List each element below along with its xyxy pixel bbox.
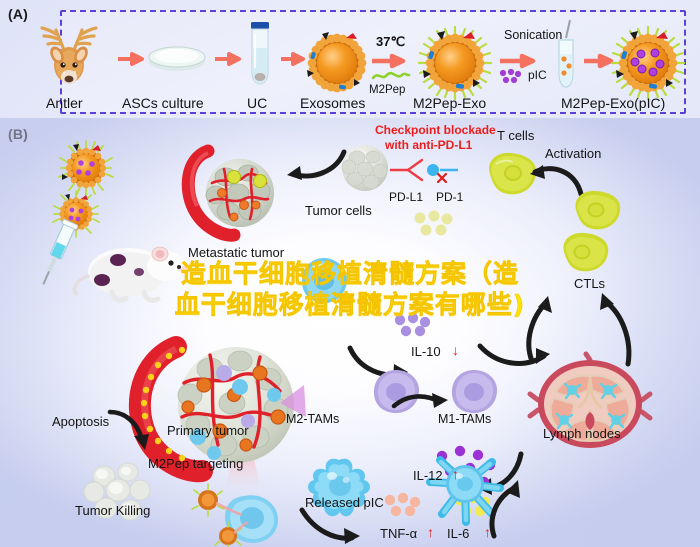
process-arrow-2-icon <box>215 52 243 66</box>
step-label-exosomes: Exosomes <box>300 95 365 111</box>
process-arrow-5-icon <box>500 54 538 68</box>
step-label-antler: Antler <box>46 95 83 111</box>
tumor-cells-icon <box>338 141 392 195</box>
t-cells-label: T cells <box>497 128 534 143</box>
figure-root: (A) <box>0 0 700 547</box>
il6-label: IL-6 <box>447 526 469 541</box>
tumor-killing-label: Tumor Killing <box>75 503 150 518</box>
il10-cytokine-dots-icon <box>412 210 456 238</box>
pic-dots-icon <box>498 68 524 84</box>
temperature-label: 37℃ <box>376 34 405 50</box>
m2pep-squiggle-icon <box>372 70 410 82</box>
arrow-to-lymph-node-icon <box>486 478 534 540</box>
step-label-m2pep-exo: M2Pep-Exo <box>413 95 486 111</box>
m2pep-targeting-label: M2Pep targeting <box>148 456 243 471</box>
m2pep-targeting-icon <box>192 470 292 546</box>
process-arrow-1-icon <box>118 52 146 66</box>
panel-b: (B) <box>0 118 700 547</box>
panel-a: (A) <box>0 0 700 118</box>
petri-dish-icon <box>146 40 208 74</box>
il12-label: IL-12 <box>413 468 443 483</box>
m2pep-exosome-icon <box>418 26 492 100</box>
primary-tumor-label: Primary tumor <box>167 423 249 438</box>
released-pic-label: Released pIC <box>305 495 384 510</box>
il6-up-arrow: ↑ <box>484 524 491 540</box>
il12-up-arrow: ↑ <box>452 466 459 482</box>
lymph-nodes-label: Lymph nodes <box>543 426 621 441</box>
tnf-alpha-up-arrow: ↑ <box>427 524 434 540</box>
centrifuge-tube-icon <box>247 22 273 86</box>
ctl-cell-icon-1 <box>568 186 626 234</box>
pd-1-label: PD-1 <box>436 190 463 204</box>
process-arrow-4-icon <box>372 54 408 68</box>
m1-tams-label: M1-TAMs <box>438 412 491 426</box>
il10-label: IL-10 <box>411 344 441 359</box>
immature-dc-icon <box>302 450 376 526</box>
checkpoint-blockade-line1: Checkpoint blockade <box>375 123 496 137</box>
pd-l1-label: PD-L1 <box>389 190 423 204</box>
checkpoint-blockade-line2: with anti-PD-L1 <box>385 138 472 152</box>
deer-icon <box>22 20 117 90</box>
watermark-line-2: 血干细胞移植清髓方案有哪些) <box>0 289 700 320</box>
metastatic-tumor-icon <box>178 143 288 248</box>
m2pep-exosome-pic-icon <box>611 26 685 100</box>
step-label-m2pep-exo-pic: M2Pep-Exo(pIC) <box>561 95 665 111</box>
m2-tams-label: M2-TAMs <box>286 412 339 426</box>
m2pep-label: M2Pep <box>369 84 405 96</box>
tnf-alpha-cytokine-dots-icon <box>382 493 424 519</box>
tumor-cells-label: Tumor cells <box>305 203 372 218</box>
apoptosis-label: Apoptosis <box>52 414 109 429</box>
lymph-node-icon <box>528 354 652 458</box>
activation-label: Activation <box>545 146 601 161</box>
nanoparticle-icon-1 <box>58 140 114 196</box>
step-label-ascs-culture: ASCs culture <box>122 95 204 111</box>
il10-down-arrow: ↓ <box>452 342 459 358</box>
arrow-apoptosis-icon <box>108 406 160 454</box>
exosome-icon <box>306 32 368 94</box>
pic-label: pIC <box>528 68 547 82</box>
sonication-label: Sonication <box>504 28 562 42</box>
watermark-line-1: 造血干细胞移植清髓方案（造 <box>0 258 700 289</box>
process-arrow-3-icon <box>281 52 307 66</box>
tnf-alpha-label: TNF-α <box>380 526 417 541</box>
panel-b-letter: (B) <box>8 126 28 142</box>
step-label-uc: UC <box>247 95 267 111</box>
watermark-overlay: 造血干细胞移植清髓方案（造 血干细胞移植清髓方案有哪些) <box>0 258 700 320</box>
